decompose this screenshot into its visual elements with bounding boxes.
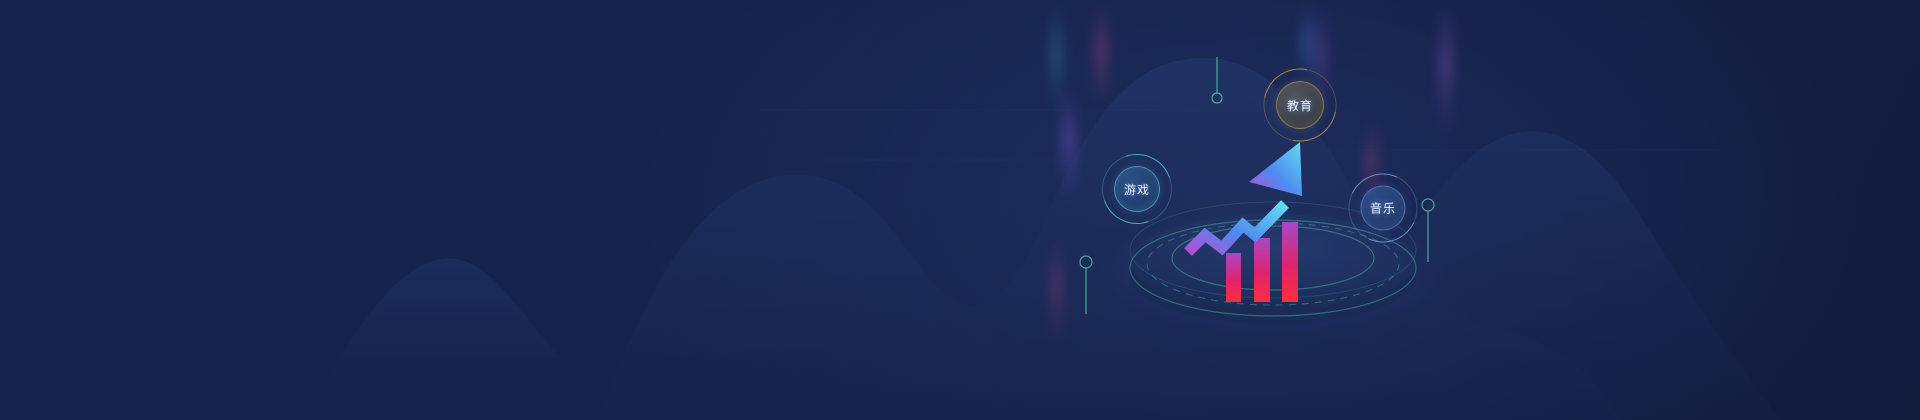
- badge-label-game: 游戏: [1124, 181, 1150, 198]
- bar-2: [1254, 238, 1270, 302]
- badge-label-music: 音乐: [1370, 200, 1396, 217]
- chart-stage: [0, 0, 1920, 420]
- connector-right-dot: [1422, 199, 1434, 211]
- badge-disc-game: 游戏: [1114, 166, 1160, 212]
- banner-root: 游戏 教育 音乐: [0, 0, 1920, 420]
- bar-4: [1282, 222, 1298, 302]
- bar-1: [1226, 253, 1241, 302]
- connector-top-dot: [1212, 93, 1222, 103]
- connector-left-dot: [1080, 256, 1092, 268]
- badge-disc-music: 音乐: [1361, 186, 1406, 231]
- badge-disc-education: 教育: [1276, 81, 1324, 129]
- badge-label-education: 教育: [1287, 97, 1313, 114]
